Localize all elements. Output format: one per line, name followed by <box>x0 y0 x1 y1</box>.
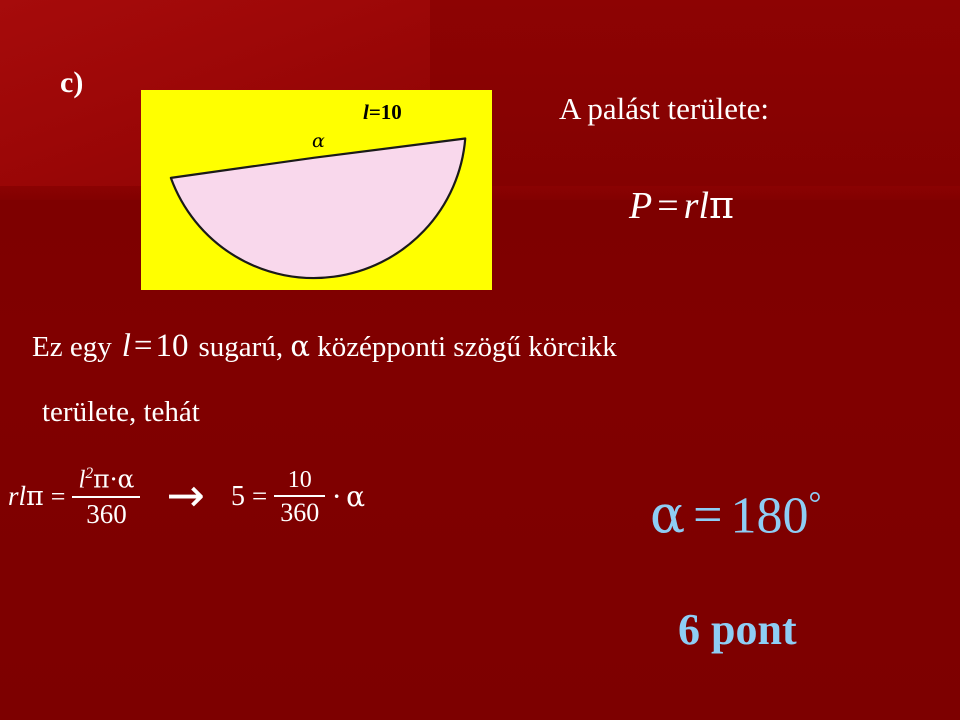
explanation-alpha-symbol: α <box>290 329 310 363</box>
sector-shape <box>171 137 482 290</box>
eq1-lhs: rlπ <box>8 481 44 512</box>
eq1-num-pi: π <box>93 464 109 493</box>
inline-radius-symbol: l <box>122 328 131 364</box>
lateral-surface-heading: A palást területe: <box>559 93 769 124</box>
formula-p-r: r <box>684 185 699 227</box>
eq2-equals: = <box>245 481 274 512</box>
points-awarded: 6 pont <box>678 608 797 652</box>
explanation-prefix: Ez egy <box>32 331 112 363</box>
eq1-num-dot: · <box>110 464 118 493</box>
derivation-equation-1: rlπ = l2π·α 360 <box>8 466 140 528</box>
eq1-pi: π <box>26 481 44 512</box>
figure-slant-label: l=10 <box>363 102 402 123</box>
degree-icon: ° <box>808 485 821 521</box>
figure-angle-label: α <box>312 132 325 151</box>
derivation-row: rlπ = l2π·α 360 → 5 = 10 360 · α <box>8 466 365 528</box>
eq2-fraction-bar <box>274 495 325 497</box>
eq1-r: r <box>8 481 19 511</box>
formula-p-equals: = <box>652 185 683 227</box>
formula-p-l: l <box>698 185 709 227</box>
eq1-numerator: l2π·α <box>72 466 140 494</box>
eq2-alpha: α <box>346 480 365 513</box>
eq2-multiply-dot: · <box>325 480 346 513</box>
slide-canvas: c) l=10 α A palást területe: P=rlπ Ez eg… <box>0 0 960 720</box>
item-label-c: c) <box>60 68 83 98</box>
result-number: 180 <box>730 487 808 544</box>
eq2-fraction: 10 360 <box>274 468 325 526</box>
eq1-denominator: 360 <box>80 500 133 528</box>
result-alpha-symbol: α <box>650 485 685 545</box>
derivation-equation-2: 5 = 10 360 · α <box>231 468 365 526</box>
cone-sector-figure: l=10 α <box>141 90 492 290</box>
result-alpha-value: α=180° <box>650 487 821 542</box>
formula-p-symbol: P <box>629 185 652 227</box>
eq1-fraction-bar <box>72 496 140 498</box>
figure-slant-value: =10 <box>369 100 402 124</box>
eq1-l: l <box>19 481 27 511</box>
eq1-equals: = <box>44 482 73 512</box>
inline-radius-value: 10 <box>156 328 189 364</box>
explanation-line-2: területe, tehát <box>42 398 200 427</box>
sector-drawing <box>141 90 492 290</box>
eq2-denominator: 360 <box>274 499 325 526</box>
eq1-num-alpha: α <box>118 464 135 493</box>
result-equals: = <box>685 487 730 544</box>
explanation-suffix-b: középponti szögű körcikk <box>317 331 617 363</box>
explanation-line-1: Ez egyl=10sugarú, α középponti szögű kör… <box>32 330 617 363</box>
eq1-num-exponent: 2 <box>85 465 93 482</box>
eq2-lhs: 5 <box>231 481 245 513</box>
formula-p-pi: π <box>709 183 734 227</box>
eq2-numerator: 10 <box>282 468 318 493</box>
lateral-surface-formula: P=rlπ <box>629 186 734 225</box>
inline-radius-equation: l=10 <box>112 328 199 364</box>
inline-radius-equals: = <box>131 328 156 364</box>
implies-arrow-icon: → <box>140 472 231 518</box>
eq1-fraction: l2π·α 360 <box>72 466 140 528</box>
explanation-suffix-a: sugarú, <box>199 331 284 363</box>
